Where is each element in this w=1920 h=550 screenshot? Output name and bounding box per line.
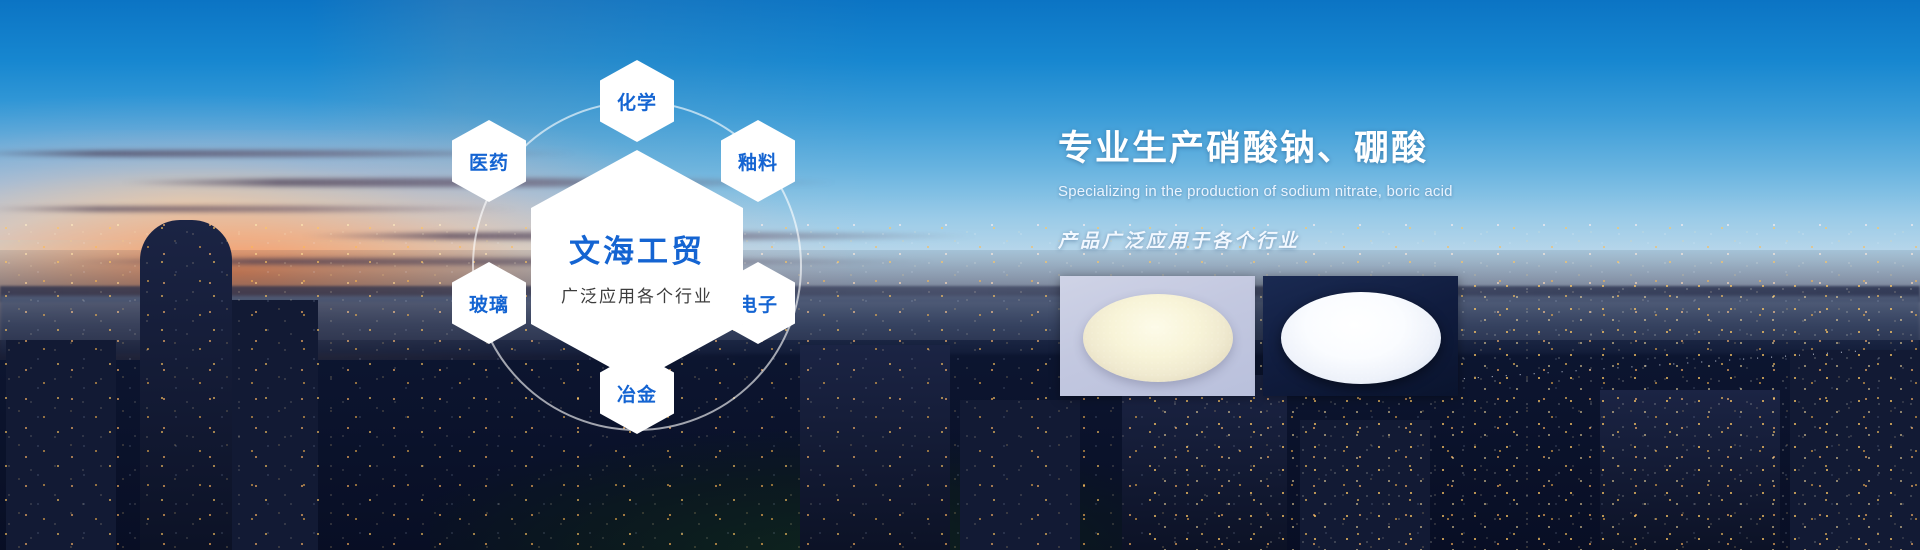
powder-pile — [1083, 294, 1233, 382]
hex-label: 玻璃 — [469, 290, 509, 317]
tagline: 产品广泛应用于各个行业 — [1058, 226, 1758, 253]
hex-label: 冶金 — [617, 380, 657, 407]
hex-label: 釉料 — [738, 148, 778, 175]
subheadline: Specializing in the production of sodium… — [1058, 183, 1758, 200]
hex-label: 化学 — [617, 88, 657, 115]
powder-grain-texture — [1281, 292, 1441, 384]
headline-block: 专业生产硝酸钠、硼酸 Specializing in the productio… — [1058, 120, 1758, 253]
background-cityscape-photo — [0, 0, 1920, 550]
product-photo-group — [1060, 276, 1458, 396]
hex-label: 医药 — [469, 148, 509, 175]
promo-banner: 化学 釉料 电子 冶金 玻璃 医药 文海工贸 广泛应用各个行业 专业生产硝酸钠、… — [0, 0, 1920, 550]
company-slogan: 广泛应用各个行业 — [561, 282, 713, 307]
company-name: 文海工贸 — [569, 226, 705, 271]
product-photo-sodium-nitrate[interactable] — [1060, 276, 1255, 396]
headline: 专业生产硝酸钠、硼酸 — [1058, 120, 1758, 171]
hex-label: 电子 — [738, 290, 778, 317]
powder-grain-texture — [1083, 294, 1233, 382]
powder-pile — [1281, 292, 1441, 384]
product-photo-boric-acid[interactable] — [1263, 276, 1458, 396]
industry-hex-graphic: 化学 釉料 电子 冶金 玻璃 医药 文海工贸 广泛应用各个行业 — [432, 14, 842, 534]
